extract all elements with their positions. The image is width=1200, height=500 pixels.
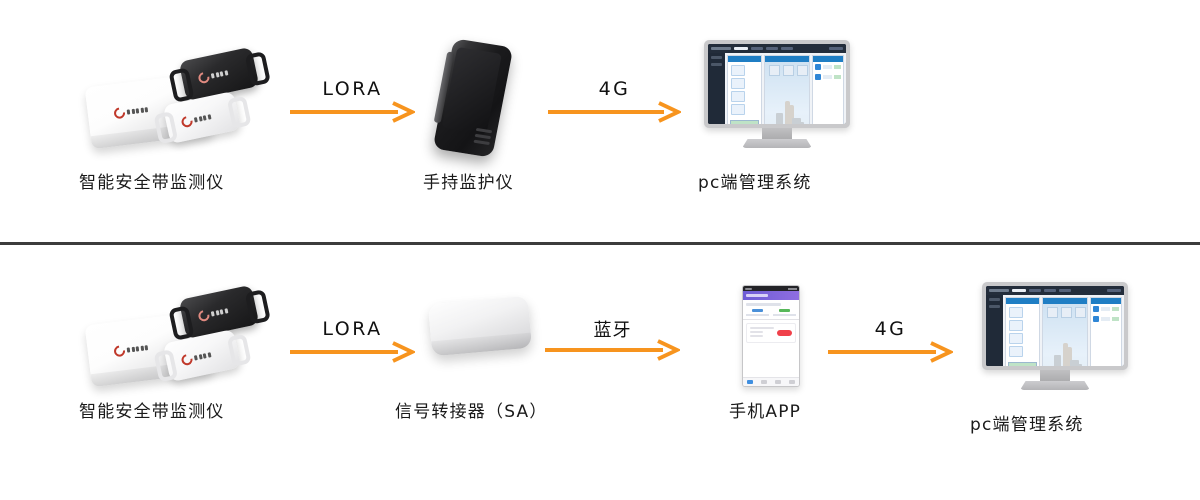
screen-panel-right (812, 55, 844, 124)
monitor-screen (986, 286, 1124, 366)
arrow-label-4g-row2: 4G (828, 318, 953, 340)
desktop-monitor-icon (982, 282, 1128, 394)
screen-sidebar (986, 295, 1003, 366)
monitor-stand-base (1020, 381, 1090, 390)
arrow-4g-row1: 4G (548, 78, 681, 123)
app-summary-panel (743, 300, 799, 320)
arrow-shape-icon (290, 341, 415, 363)
screen-body (708, 53, 846, 124)
arrow-shape-icon (545, 339, 680, 361)
app-header-bar (743, 291, 799, 300)
node-pc-row1[interactable]: pc端管理系统 (690, 40, 860, 190)
monitor-stand-base (742, 139, 812, 148)
screen-3d-city-view (765, 62, 809, 124)
screen-panel-right (1090, 297, 1122, 366)
phone-body (742, 285, 800, 387)
arrow-lora-row2: LORA (290, 318, 415, 363)
brand-logo-icon (197, 305, 228, 322)
section-divider (0, 242, 1200, 245)
arrow-label-4g-row1: 4G (548, 78, 681, 100)
signal-repeater-icon (428, 296, 532, 357)
screen-panel-center (1042, 297, 1088, 366)
screen-topbar (986, 286, 1124, 295)
arrow-lora-row1: LORA (290, 78, 415, 123)
safety-belt-sensor-group-icon (60, 48, 280, 158)
screen-3d-city-view (1043, 304, 1087, 366)
node-sensor-row1[interactable]: 智能安全带监测仪 (60, 40, 320, 190)
arrow-shape-icon (290, 101, 415, 123)
desktop-monitor-icon (704, 40, 850, 152)
screen-panel-center (764, 55, 810, 124)
node-label-handheld-row1: 手持监护仪 (423, 168, 514, 193)
monitor-bezel (704, 40, 850, 128)
monitor-bezel (982, 282, 1128, 370)
brand-logo-icon (113, 342, 148, 357)
monitor-screen (708, 44, 846, 124)
screen-panels (725, 53, 846, 124)
node-label-repeater-row2: 信号转接器（SA） (395, 397, 548, 422)
screen-topbar (708, 44, 846, 53)
app-tab-bar[interactable] (743, 377, 799, 386)
brand-logo-icon (181, 349, 212, 366)
diagram-canvas: 智能安全带监测仪 LORA 手持监护仪 4G (0, 0, 1200, 500)
node-label-pc-row2: pc端管理系统 (970, 410, 1084, 435)
arrow-shape-icon (828, 341, 953, 363)
node-sensor-row2[interactable]: 智能安全带监测仪 (60, 282, 320, 432)
arrow-4g-row2: 4G (828, 318, 953, 363)
app-alert-badge (777, 330, 792, 336)
brand-logo-icon (181, 111, 212, 128)
node-label-sensor-row1: 智能安全带监测仪 (79, 168, 225, 193)
node-handheld-row1[interactable]: 手持监护仪 (415, 40, 545, 190)
screen-panel-left (727, 55, 762, 124)
arrow-bluetooth-row2: 蓝牙 (545, 316, 680, 361)
screen-sidebar (708, 53, 725, 124)
screen-body (986, 295, 1124, 366)
screen-panel-left (1005, 297, 1040, 366)
handheld-monitor-icon (433, 38, 514, 157)
node-label-pc-row1: pc端管理系统 (698, 168, 812, 193)
arrow-label-lora-row1: LORA (290, 78, 415, 100)
node-label-sensor-row2: 智能安全带监测仪 (79, 397, 225, 422)
node-pc-row2[interactable]: pc端管理系统 (960, 282, 1150, 442)
brand-logo-icon (113, 104, 148, 119)
arrow-label-lora-row2: LORA (290, 318, 415, 340)
safety-belt-sensor-group-icon (60, 286, 280, 396)
screen-panels (1003, 295, 1124, 366)
mobile-phone-icon (742, 285, 798, 385)
arrow-shape-icon (548, 101, 681, 123)
app-alert-card (746, 323, 796, 343)
brand-logo-icon (197, 67, 228, 84)
node-label-phone-app-row2: 手机APP (729, 397, 801, 422)
